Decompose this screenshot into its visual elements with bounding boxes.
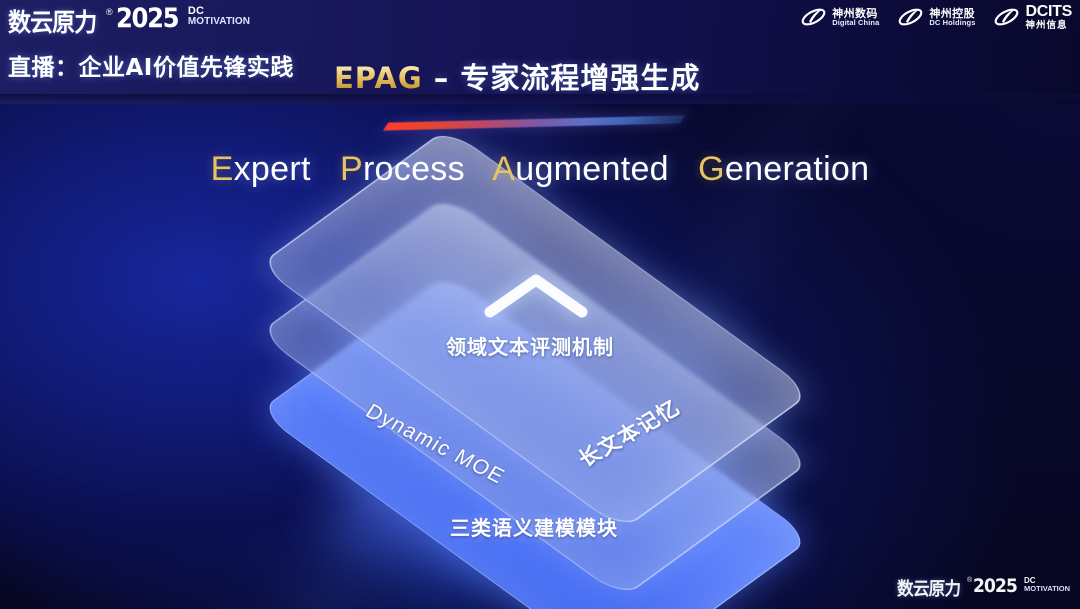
watermark-name-cn: 数云原力 — [897, 575, 960, 601]
brand-registered-mark: ® — [106, 7, 113, 17]
partner-logos: 神州数码 Digital China 神州控股 DC Holdings — [800, 4, 1072, 31]
headline-rest-generation: eneration — [725, 150, 869, 188]
swoosh-icon — [993, 5, 1020, 29]
slide-title-acronym: EPAG — [334, 61, 423, 95]
brand-lockup: 数云原力 ® 2025 DC MOTIVATION — [8, 3, 250, 39]
live-session-label: 直播：企业AI价值先锋实践 — [8, 48, 294, 82]
watermark-registered-mark: ® — [967, 577, 972, 584]
partner-name-cn: 神州信息 — [1025, 21, 1072, 31]
partner-name-en: Digital China — [832, 19, 879, 27]
partner-logo-text: 神州控股 DC Holdings — [929, 8, 975, 27]
brand-dc-line2: MOTIVATION — [188, 17, 250, 27]
brand-name-cn: 数云原力 — [8, 3, 96, 39]
partner-name-en: DC Holdings — [929, 19, 975, 27]
slide-title-dash: – — [423, 61, 461, 95]
headline-cap-p: P — [340, 150, 363, 188]
brand-dc-motivation: DC MOTIVATION — [188, 6, 250, 27]
partner-logo-text: 神州数码 Digital China — [832, 8, 879, 27]
corner-watermark: 数云原力 ® 2025 DC MOTIVATION — [897, 575, 1070, 601]
watermark-dc-motivation: DC MOTIVATION — [1024, 577, 1070, 593]
watermark-dc-line2: MOTIVATION — [1024, 585, 1070, 593]
headline-cap-a: A — [492, 150, 515, 188]
headline-rest-process: rocess — [363, 150, 465, 188]
slide-background: 领域文本评测机制 Dynamic MOE 长文本记忆 三类语义建模模块 Expe… — [0, 0, 1080, 609]
swoosh-icon — [800, 5, 827, 29]
swoosh-icon — [897, 5, 924, 29]
headline-cap-g: G — [698, 150, 725, 188]
layer-label-top: 领域文本评测机制 — [446, 331, 614, 360]
watermark-year: 2025 — [973, 575, 1017, 597]
chevron-up-icon — [484, 272, 588, 318]
layer-label-bottom: 三类语义建模模块 — [450, 512, 618, 541]
headline-rest-expert: xpert — [234, 150, 311, 188]
top-banner: 数云原力 ® 2025 DC MOTIVATION 直播：企业AI价值先锋实践 … — [0, 0, 1080, 104]
partner-name-en: DCITS — [1025, 4, 1072, 21]
brand-year: 2025 — [116, 3, 178, 34]
partner-logo-dcits: DCITS 神州信息 — [993, 4, 1072, 31]
partner-logo-digital-china: 神州数码 Digital China — [800, 5, 879, 29]
headline-cap-e: E — [211, 150, 234, 188]
page-headline: Expert Process Augmented Generation — [0, 150, 1080, 189]
headline-rest-augmented: ugmented — [515, 150, 669, 188]
partner-logo-dc-holdings: 神州控股 DC Holdings — [897, 5, 975, 29]
partner-logo-text: DCITS 神州信息 — [1025, 4, 1072, 31]
slide-title-cn: 专家流程增强生成 — [460, 61, 700, 95]
slide-title: EPAG – 专家流程增强生成 — [334, 55, 700, 97]
